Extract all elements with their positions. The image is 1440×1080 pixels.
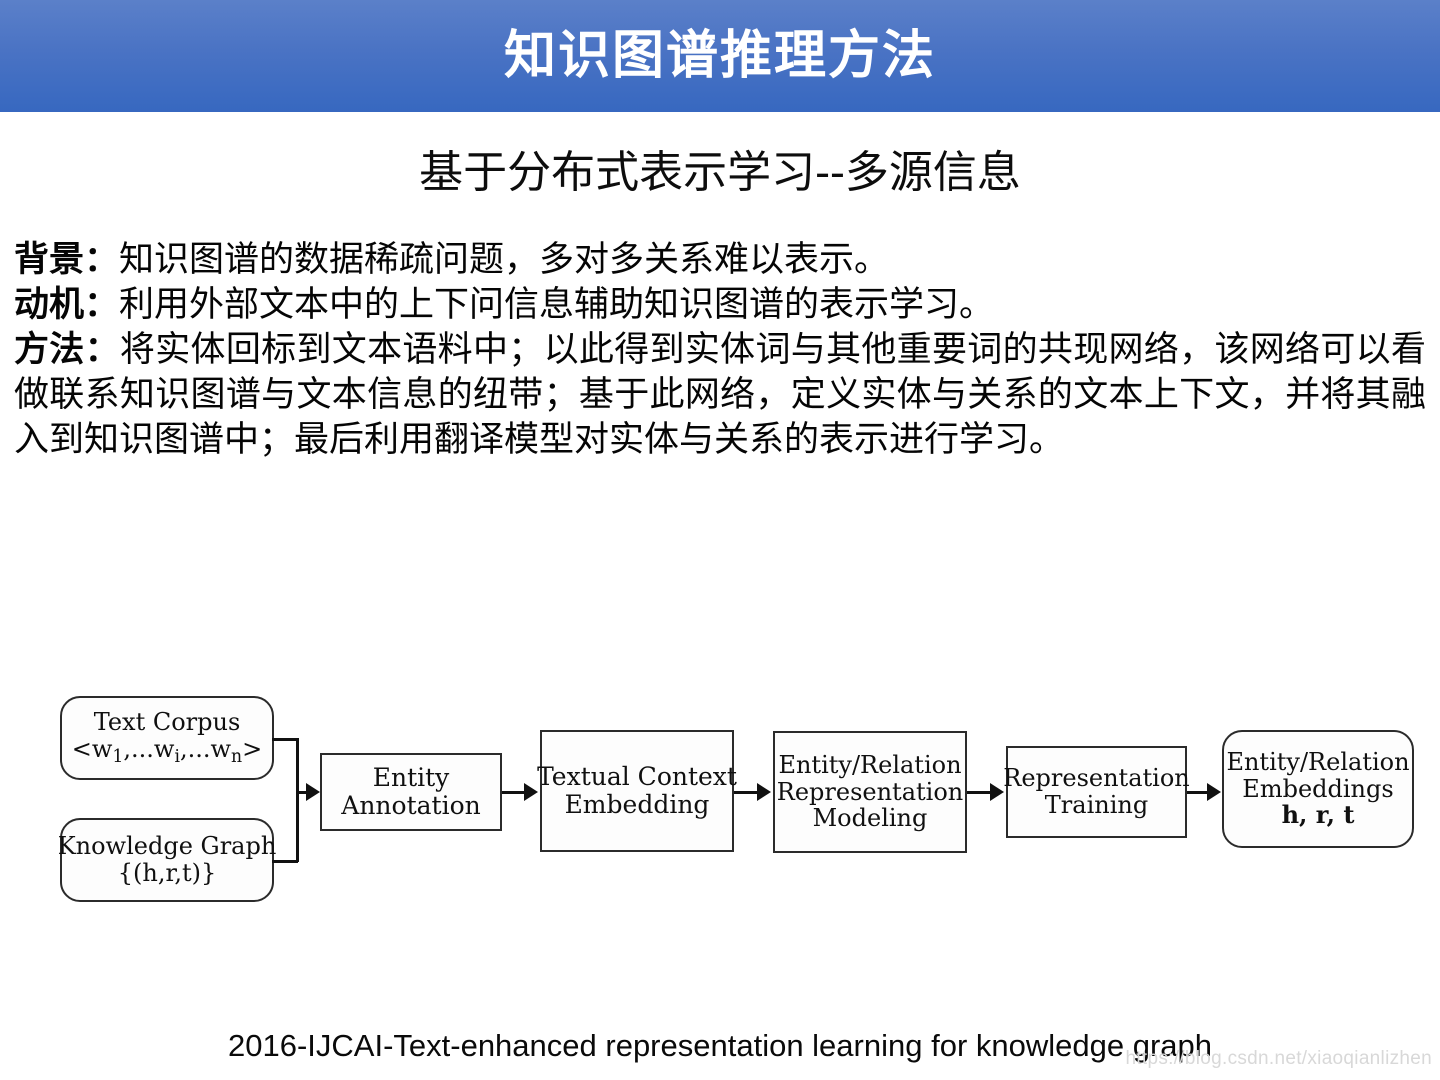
connector-textual-context-to-er-modeling <box>734 791 759 794</box>
node-line-er-modeling-2: Representation <box>777 779 963 806</box>
paragraph-label-background: 背景： <box>14 240 119 280</box>
node-line-knowledge-graph-title: Knowledge Graph <box>58 833 277 860</box>
node-line-er-modeling-3: Modeling <box>813 805 928 832</box>
connector-entity-annotation-to-textual-context <box>502 791 526 794</box>
arrowhead-to-entity-annotation <box>306 783 320 801</box>
body-text-block: 背景：知识图谱的数据稀疏问题，多对多关系难以表示。 动机：利用外部文本中的上下问… <box>14 238 1426 463</box>
diagram-node-representation-training: Representation Training <box>1006 746 1187 838</box>
arrowhead-to-er-embeddings <box>1207 783 1221 801</box>
connector-merge-vertical <box>296 738 299 862</box>
arrowhead-to-er-modeling <box>757 783 771 801</box>
page-title: 知识图谱推理方法 <box>504 30 936 82</box>
node-line-rep-training-2: Training <box>1045 792 1148 819</box>
paragraph-text-method: 将实体回标到文本语料中；以此得到实体词与其他重要词的共现网络，该网络可以看做联系… <box>14 330 1426 460</box>
node-line-text-corpus-title: Text Corpus <box>94 709 241 736</box>
paragraph-label-method: 方法： <box>14 330 120 370</box>
paragraph-label-motivation: 动机： <box>14 285 119 325</box>
connector-knowledge-graph-out <box>272 860 298 863</box>
diagram-node-entity-relation-representation-modeling: Entity/Relation Representation Modeling <box>773 731 967 853</box>
subscript-i: i <box>174 747 180 767</box>
connector-text-corpus-out <box>272 738 298 741</box>
node-line-entity-annotation-1: Entity <box>373 764 450 792</box>
slide-subtitle: 基于分布式表示学习--多源信息 <box>0 148 1440 199</box>
diagram-node-entity-relation-embeddings: Entity/Relation Embeddings h, r, t <box>1222 730 1414 848</box>
node-line-er-embeddings-2: Embeddings <box>1242 776 1393 803</box>
pipeline-flow-diagram: Text Corpus <w1,...wi,...wn> Knowledge G… <box>0 660 1440 930</box>
node-line-rep-training-1: Representation <box>1003 765 1189 792</box>
connector-er-modeling-to-rep-training <box>967 791 992 794</box>
arrowhead-to-textual-context <box>524 783 538 801</box>
node-line-er-embeddings-3: h, r, t <box>1282 802 1355 829</box>
paragraph-text-motivation: 利用外部文本中的上下问信息辅助知识图谱的表示学习。 <box>119 285 994 325</box>
node-line-er-embeddings-1: Entity/Relation <box>1226 749 1409 776</box>
node-line-er-modeling-1: Entity/Relation <box>778 752 961 779</box>
node-line-textual-context-1: Textual Context <box>537 763 737 791</box>
slide-header-banner: 知识图谱推理方法 <box>0 0 1440 112</box>
arrowhead-to-rep-training <box>990 783 1004 801</box>
subscript-1: 1 <box>112 747 123 767</box>
paragraph-text-background: 知识图谱的数据稀疏问题，多对多关系难以表示。 <box>119 240 889 280</box>
diagram-node-knowledge-graph: Knowledge Graph {(h,r,t)} <box>60 818 274 902</box>
paragraph-motivation: 动机：利用外部文本中的上下问信息辅助知识图谱的表示学习。 <box>14 283 1426 328</box>
diagram-node-entity-annotation: Entity Annotation <box>320 753 502 831</box>
diagram-node-textual-context-embedding: Textual Context Embedding <box>540 730 734 852</box>
node-line-text-corpus-formula: <w1,...wi,...wn> <box>72 736 263 767</box>
diagram-node-text-corpus: Text Corpus <w1,...wi,...wn> <box>60 696 274 780</box>
paragraph-method: 方法：将实体回标到文本语料中；以此得到实体词与其他重要词的共现网络，该网络可以看… <box>14 328 1426 463</box>
connector-rep-training-to-er-embeddings <box>1187 791 1209 794</box>
node-line-knowledge-graph-formula: {(h,r,t)} <box>118 860 216 887</box>
subscript-n: n <box>231 747 242 767</box>
node-line-textual-context-2: Embedding <box>565 791 710 819</box>
node-line-entity-annotation-2: Annotation <box>341 792 480 820</box>
watermark-url: https://blog.csdn.net/xiaoqianlizhen <box>1125 1048 1432 1070</box>
paragraph-background: 背景：知识图谱的数据稀疏问题，多对多关系难以表示。 <box>14 238 1426 283</box>
